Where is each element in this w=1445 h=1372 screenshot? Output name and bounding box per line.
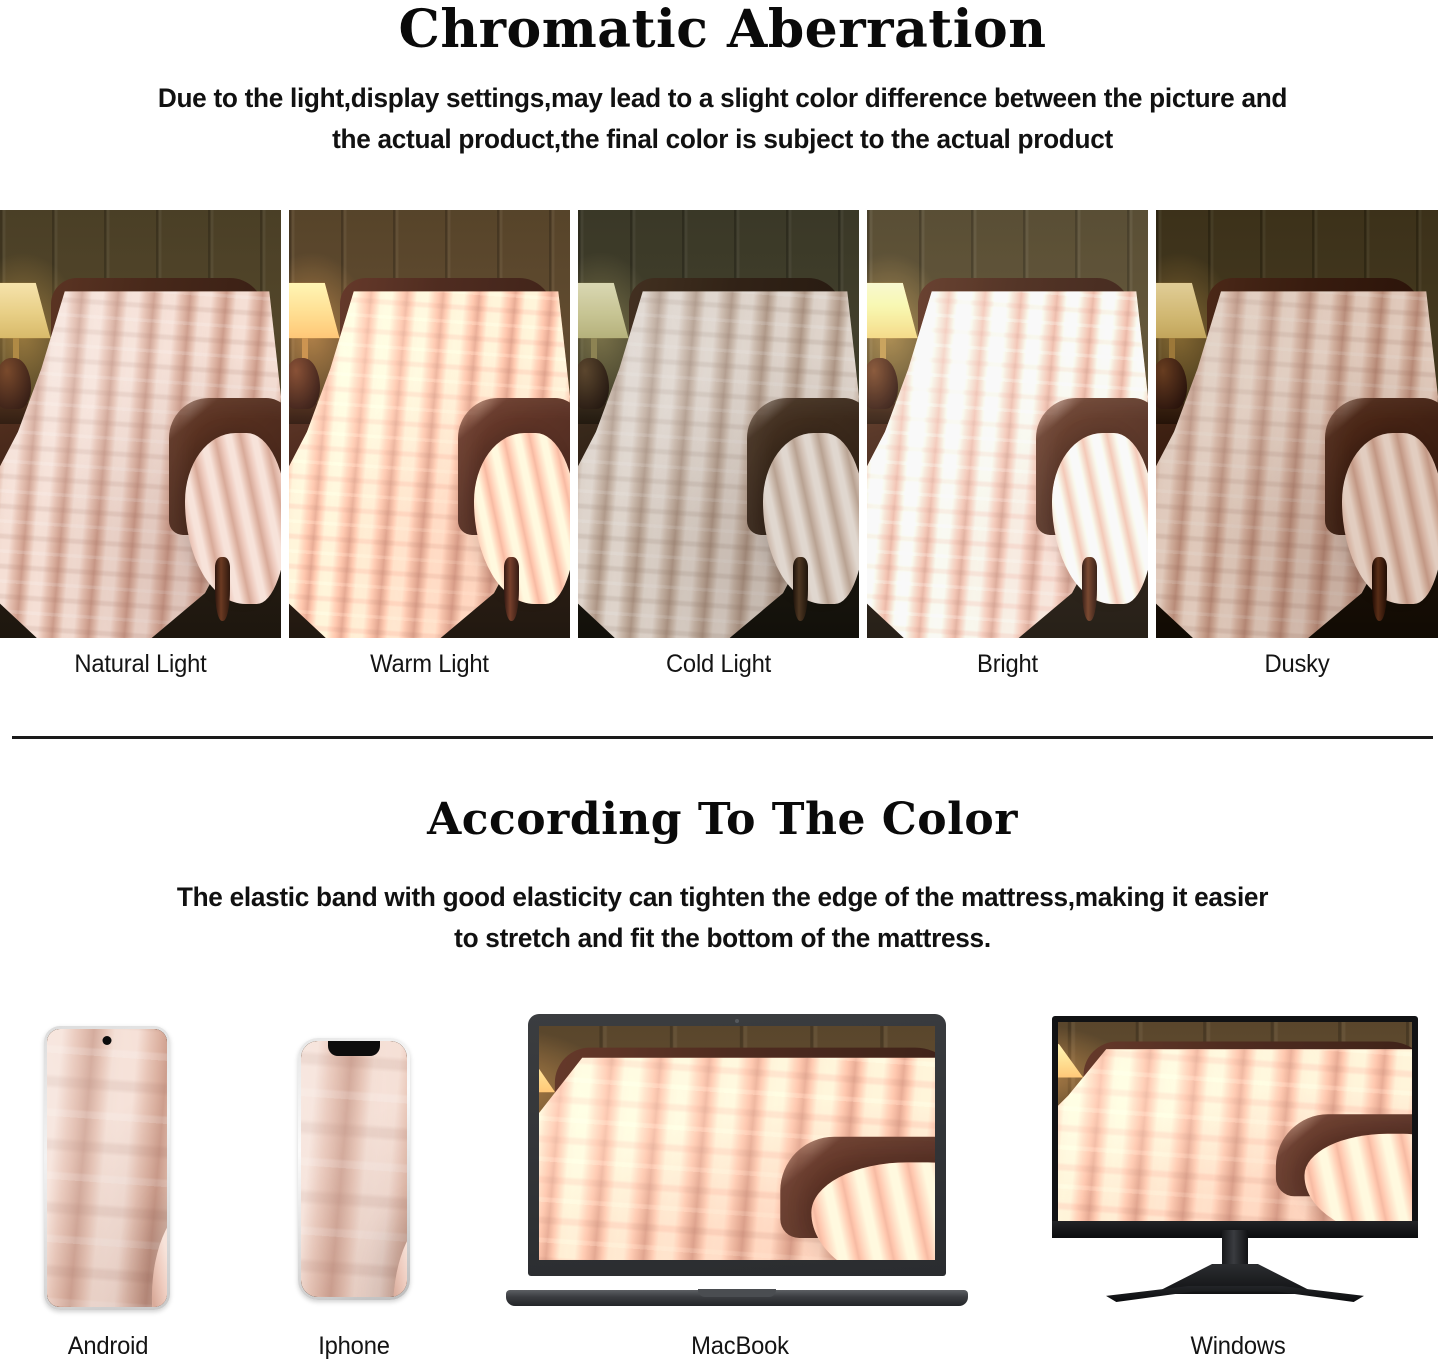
light-label-bright: Bright [874,650,1141,679]
room-scene [867,210,1148,638]
monitor-screen [1058,1022,1412,1221]
room-scene [1156,210,1438,638]
light-label-dusky: Dusky [1163,650,1431,679]
monitor-stand-legs [1106,1286,1364,1302]
light-variant-image-dusky[interactable] [1156,210,1438,638]
room-scene [1058,1022,1412,1221]
device-label-iphone: Iphone [272,1332,435,1361]
macbook-lid-notch [698,1289,776,1297]
webcam-icon [735,1019,739,1023]
light-variant-image-strip [0,210,1445,638]
light-variant-image-warm-light[interactable] [289,210,570,638]
faux-fur-blanket [301,1041,407,1297]
lamp-neck [13,338,19,359]
macbook-lid [528,1014,946,1276]
light-variant-image-cold-light[interactable] [578,210,859,638]
lamp-neck [591,338,597,359]
chromatic-aberration-title: Chromatic Aberration [0,0,1445,58]
device-mockup-iphone[interactable] [298,1038,410,1300]
lamp-neck [1169,338,1175,359]
light-label-cold-light: Cold Light [585,650,852,679]
room-scene [539,1026,935,1260]
room-scene [301,1041,407,1297]
room-scene [578,210,859,638]
front-camera-icon [103,1036,112,1045]
room-scene [47,1029,167,1307]
according-to-color-title: According To The Color [0,795,1445,845]
chromatic-description-line-2: the actual product,the final color is su… [22,119,1424,160]
lamp-neck [880,338,886,359]
iphone-screen [301,1041,407,1297]
light-label-natural-light: Natural Light [7,650,274,679]
device-label-windows: Windows [1126,1332,1350,1361]
section-divider [12,736,1433,739]
device-mockup-macbook[interactable] [506,1014,968,1306]
device-mockup-windows[interactable] [1052,1016,1418,1312]
color-description-line-1: The elastic band with good elasticity ca… [22,877,1424,918]
light-variant-image-natural-light[interactable] [0,210,281,638]
macbook-base [506,1290,968,1306]
chromatic-aberration-section: Chromatic Aberration Due to the light,di… [0,0,1445,58]
macbook-screen [539,1026,935,1260]
chromatic-description-line-1: Due to the light,display settings,may le… [22,78,1424,119]
lamp-neck [302,338,308,359]
device-mockup-row [0,1018,1445,1318]
room-scene [0,210,281,638]
notch-icon [328,1041,380,1056]
room-scene [289,210,570,638]
device-labels: Android Iphone MacBook Windows [0,1332,1445,1372]
light-label-warm-light: Warm Light [296,650,563,679]
monitor-bezel [1052,1016,1418,1238]
faux-fur-blanket [47,1029,167,1307]
light-variant-image-bright[interactable] [867,210,1148,638]
chromatic-aberration-description: Due to the light,display settings,may le… [0,78,1445,160]
according-to-color-description: The elastic band with good elasticity ca… [0,877,1445,959]
android-screen [47,1029,167,1307]
device-mockup-android[interactable] [44,1026,170,1310]
armchair-leg [1372,557,1387,621]
light-variant-labels: Natural Light Warm Light Cold Light Brig… [0,650,1445,679]
device-label-macbook: MacBook [626,1332,854,1361]
color-description-line-2: to stretch and fit the bottom of the mat… [22,918,1424,959]
device-label-android: Android [24,1332,191,1361]
